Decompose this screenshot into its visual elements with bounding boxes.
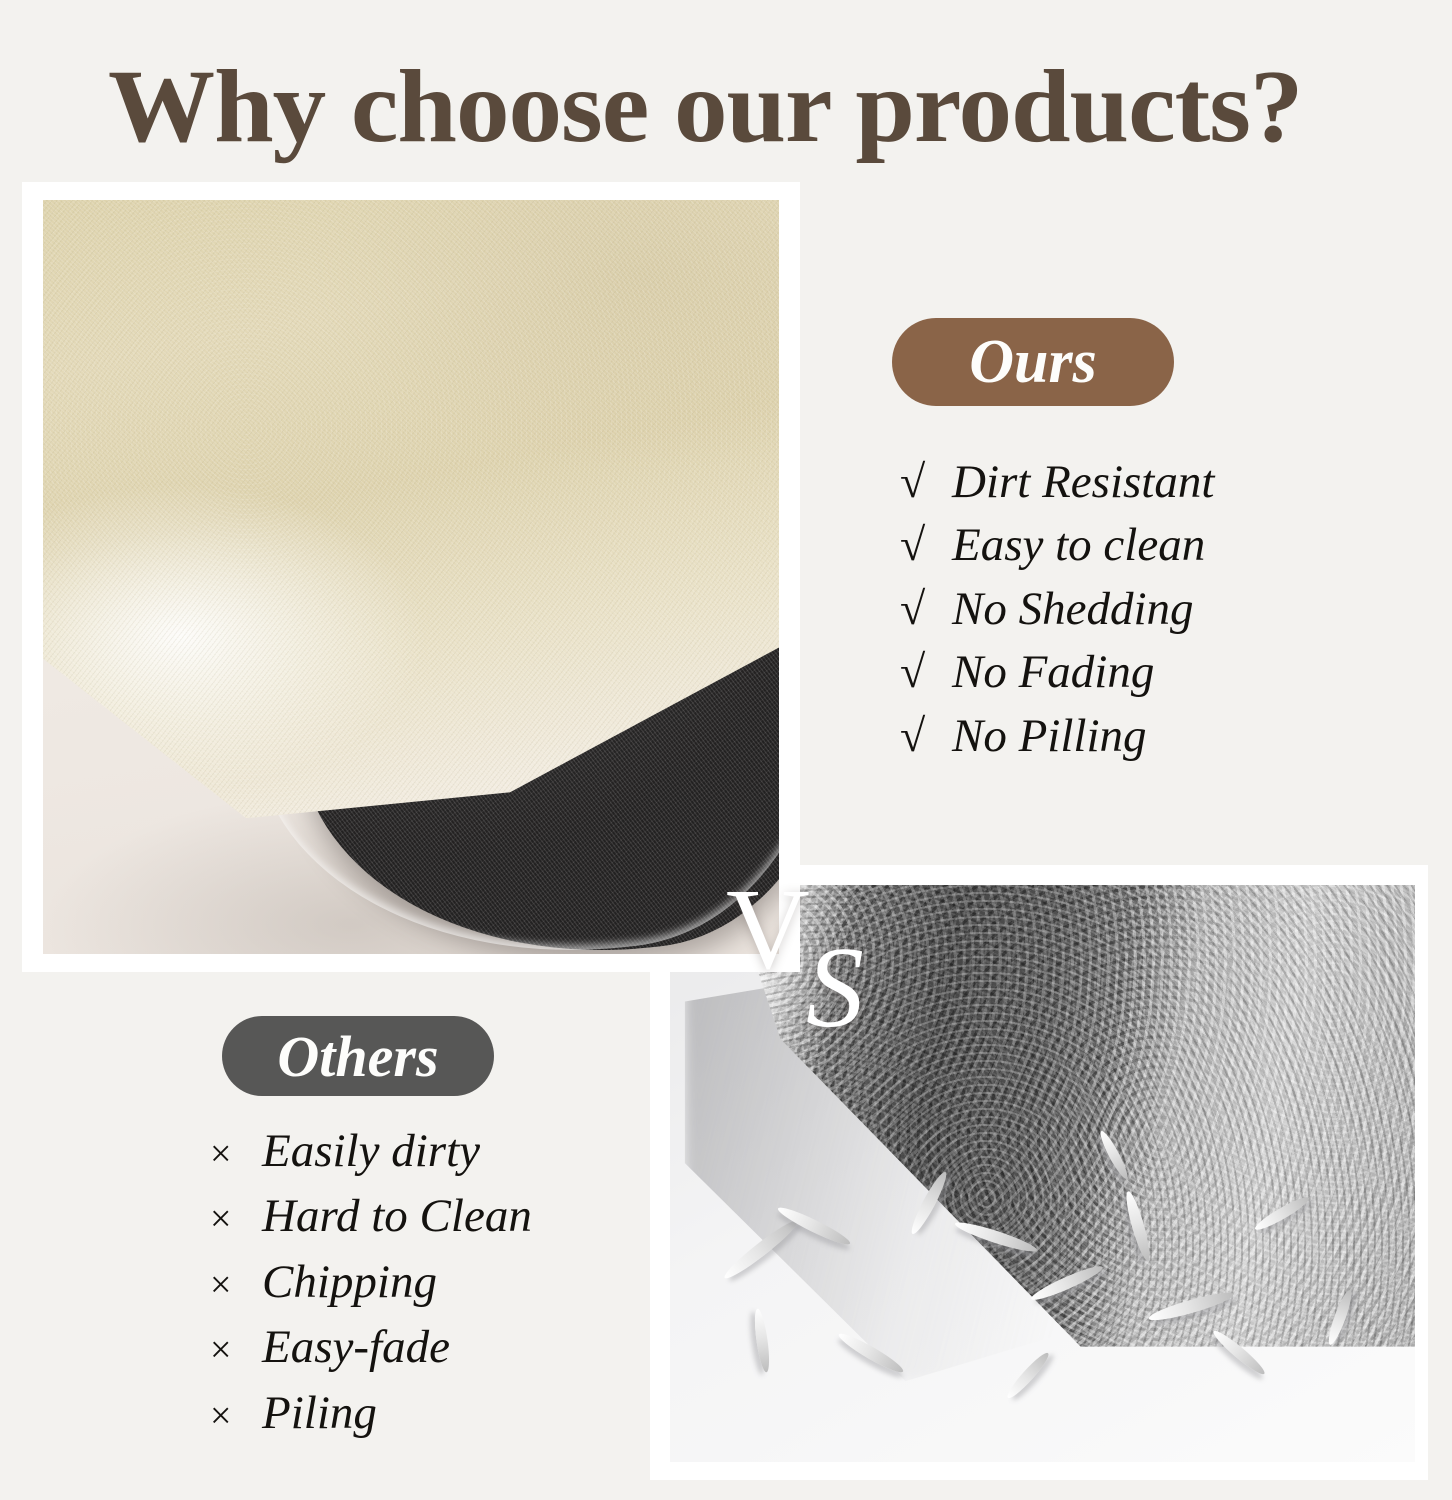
feature-label: No Fading	[952, 645, 1154, 700]
feature-label: No Pilling	[952, 709, 1147, 764]
cross-icon: ×	[210, 1132, 262, 1177]
cross-icon: ×	[210, 1328, 262, 1373]
check-icon: √	[900, 709, 952, 763]
infographic-canvas: Why choose our products?	[0, 0, 1452, 1500]
feature-label: Easy-fade	[262, 1320, 450, 1375]
list-item: × Chipping	[210, 1255, 532, 1310]
list-item: √ Easy to clean	[900, 518, 1214, 573]
cross-icon: ×	[210, 1263, 262, 1308]
feature-label: Chipping	[262, 1255, 437, 1310]
check-icon: √	[900, 518, 952, 572]
feature-label: No Shedding	[952, 582, 1194, 637]
feature-label: Piling	[262, 1386, 377, 1441]
check-icon: √	[900, 455, 952, 509]
feature-label: Easily dirty	[262, 1124, 480, 1179]
shed-fiber	[752, 1308, 772, 1373]
cross-icon: ×	[210, 1394, 262, 1439]
ours-feature-list: √ Dirt Resistant √ Easy to clean √ No Sh…	[900, 455, 1214, 772]
list-item: × Easily dirty	[210, 1124, 532, 1179]
list-item: × Easy-fade	[210, 1320, 532, 1375]
ours-product-photo	[22, 182, 800, 972]
list-item: √ No Fading	[900, 645, 1214, 700]
feature-label: Easy to clean	[952, 518, 1205, 573]
cross-icon: ×	[210, 1197, 262, 1242]
list-item: √ No Shedding	[900, 582, 1214, 637]
feature-label: Dirt Resistant	[952, 455, 1214, 510]
shed-fiber	[1004, 1349, 1052, 1401]
list-item: × Piling	[210, 1386, 532, 1441]
list-item: √ No Pilling	[900, 709, 1214, 764]
ours-badge: Ours	[892, 318, 1174, 406]
ours-photo-content	[43, 200, 779, 954]
list-item: × Hard to Clean	[210, 1189, 532, 1244]
feature-label: Hard to Clean	[262, 1189, 532, 1244]
others-feature-list: × Easily dirty × Hard to Clean × Chippin…	[210, 1124, 532, 1451]
others-badge: Others	[222, 1016, 494, 1096]
list-item: √ Dirt Resistant	[900, 455, 1214, 510]
check-icon: √	[900, 582, 952, 636]
page-title: Why choose our products?	[108, 52, 1416, 161]
check-icon: √	[900, 645, 952, 699]
